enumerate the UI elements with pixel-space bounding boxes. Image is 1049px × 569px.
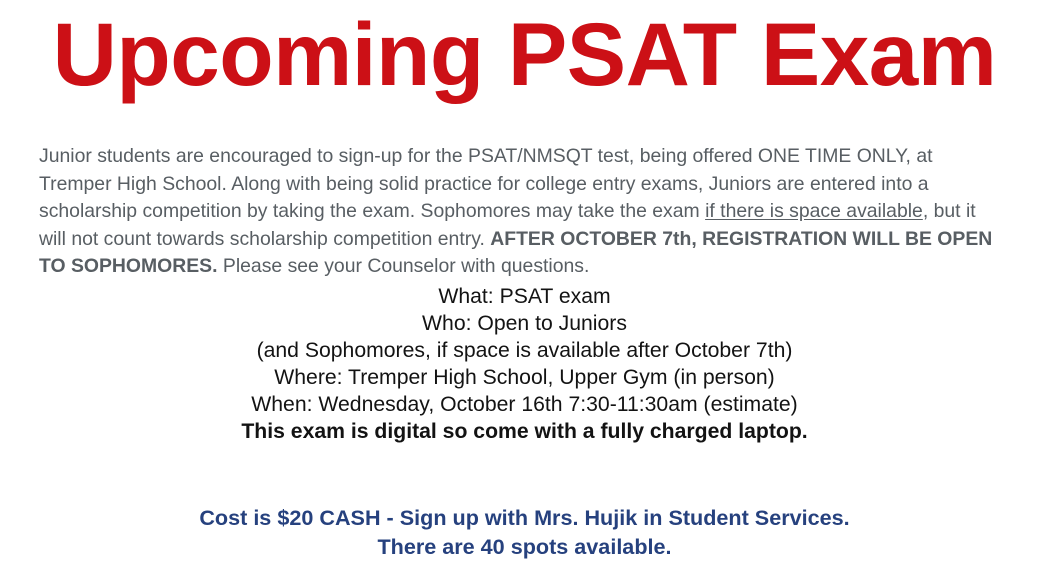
detail-line-who-note: (and Sophomores, if space is available a… [0, 337, 1049, 364]
detail-line-who: Who: Open to Juniors [0, 310, 1049, 337]
psat-exam-flyer: Upcoming PSAT Exam Junior students are e… [0, 0, 1049, 569]
cost-signup-line: Cost is $20 CASH - Sign up with Mrs. Huj… [0, 503, 1049, 532]
detail-line-when: When: Wednesday, October 16th 7:30-11:30… [0, 391, 1049, 418]
spots-available-line: There are 40 spots available. [0, 532, 1049, 561]
intro-underlined-clause: if there is space available [705, 200, 923, 222]
page-title: Upcoming PSAT Exam [0, 2, 1049, 106]
detail-line-where: Where: Tremper High School, Upper Gym (i… [0, 364, 1049, 391]
detail-line-laptop-requirement: This exam is digital so come with a full… [0, 418, 1049, 445]
intro-paragraph: Junior students are encouraged to sign-u… [39, 143, 1001, 281]
cost-signup-note: Cost is $20 CASH - Sign up with Mrs. Huj… [0, 503, 1049, 561]
intro-text-part-3: Please see your Counselor with questions… [218, 255, 590, 277]
event-details-block: What: PSAT exam Who: Open to Juniors (an… [0, 283, 1049, 445]
detail-line-what: What: PSAT exam [0, 283, 1049, 310]
